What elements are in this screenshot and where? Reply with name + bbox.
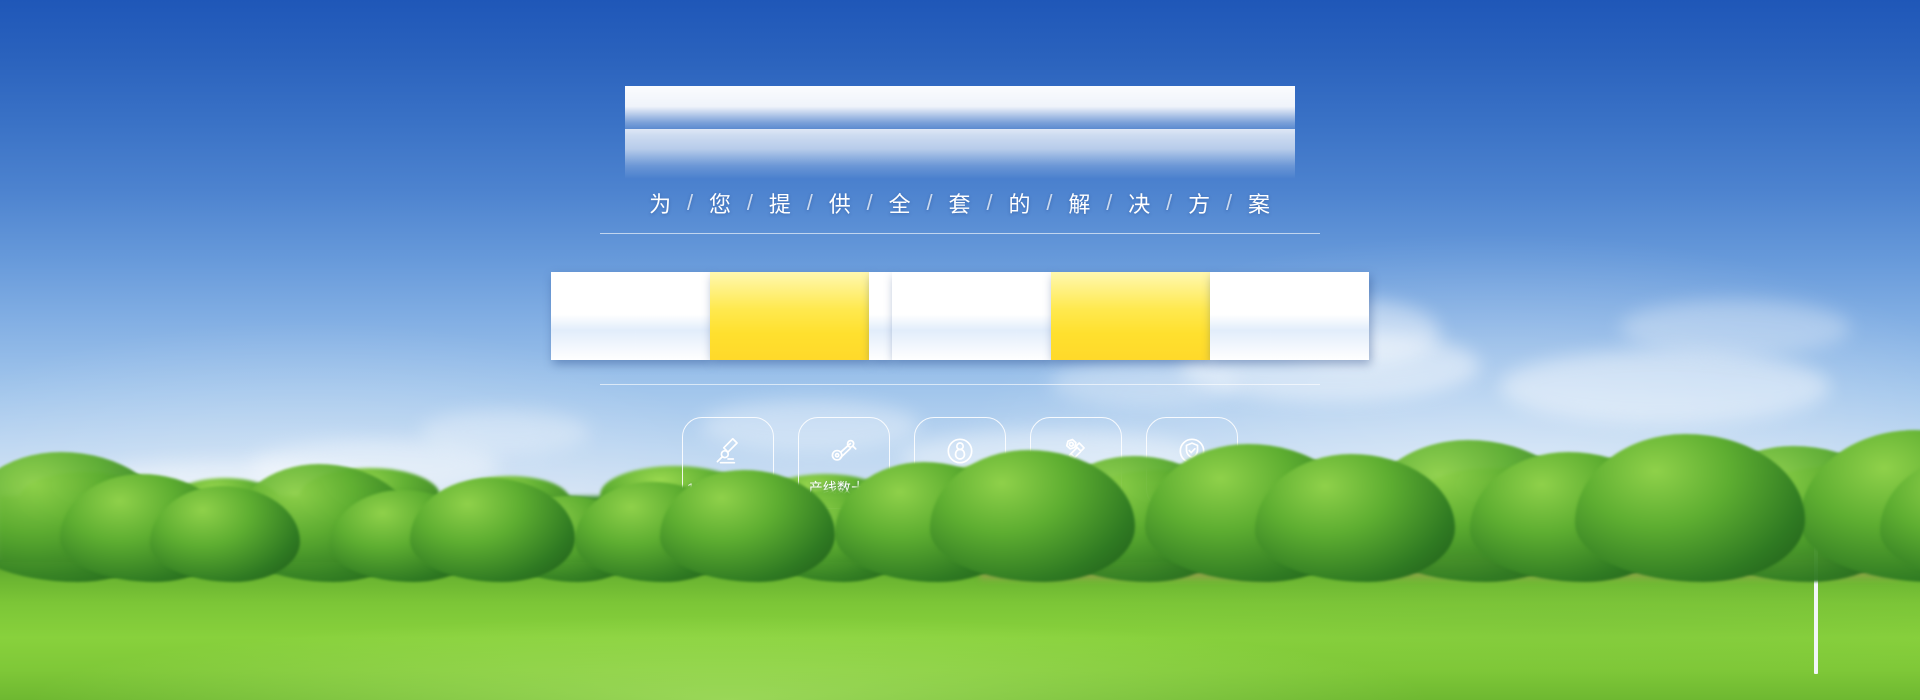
subtitle-char: 全 <box>889 187 912 219</box>
subtitle-char: 提 <box>769 187 792 219</box>
subtitle-separator: / <box>852 190 889 216</box>
headline-segment: 更大 <box>1210 272 1369 360</box>
subtitle-char: 您 <box>709 187 732 219</box>
certified-person-icon <box>943 434 977 468</box>
subtitle-separator: / <box>1151 190 1188 216</box>
divider-bottom <box>600 384 1320 385</box>
english-title-block: INTEGRATED SEWAGE TREATMENT <box>625 86 1295 179</box>
divider-top <box>600 233 1320 234</box>
subtitle-separator: / <box>1211 190 1248 216</box>
subtitle-separator: / <box>792 190 829 216</box>
subtitle-separator: / <box>672 190 709 216</box>
subtitle-char: 为 <box>649 187 672 219</box>
english-title-line2: SEWAGE TREATMENT <box>625 129 1295 178</box>
headline-segment: 出水 <box>892 272 1051 360</box>
banner-content: INTEGRATED SEWAGE TREATMENT 为/您/提/供/全/套/… <box>0 0 1920 700</box>
subtitle-char: 解 <box>1068 187 1091 219</box>
subtitle-row: 为/您/提/供/全/套/的/解/决/方/案 <box>649 187 1271 219</box>
headline-segment: 流量 <box>1051 272 1210 360</box>
subtitle-separator: / <box>1091 190 1128 216</box>
headline-segment: 增大 <box>710 272 869 360</box>
subtitle-char: 套 <box>949 187 972 219</box>
subtitle-separator: / <box>912 190 949 216</box>
valve-icon <box>827 434 861 468</box>
subtitle-separator: / <box>971 190 1008 216</box>
headline: 口径增大,出水流量更大 <box>551 254 1370 366</box>
subtitle-separator: / <box>1031 190 1068 216</box>
microscope-icon <box>711 434 745 468</box>
subtitle-char: 方 <box>1188 187 1211 219</box>
headline-segment: , <box>869 272 892 360</box>
subtitle-char: 决 <box>1128 187 1151 219</box>
headline-segment: 口径 <box>551 272 710 360</box>
subtitle-separator: / <box>732 190 769 216</box>
subtitle-char: 案 <box>1248 187 1271 219</box>
subtitle-char: 供 <box>829 187 852 219</box>
subtitle-char: 的 <box>1008 187 1031 219</box>
hero-banner: INTEGRATED SEWAGE TREATMENT 为/您/提/供/全/套/… <box>0 0 1920 700</box>
